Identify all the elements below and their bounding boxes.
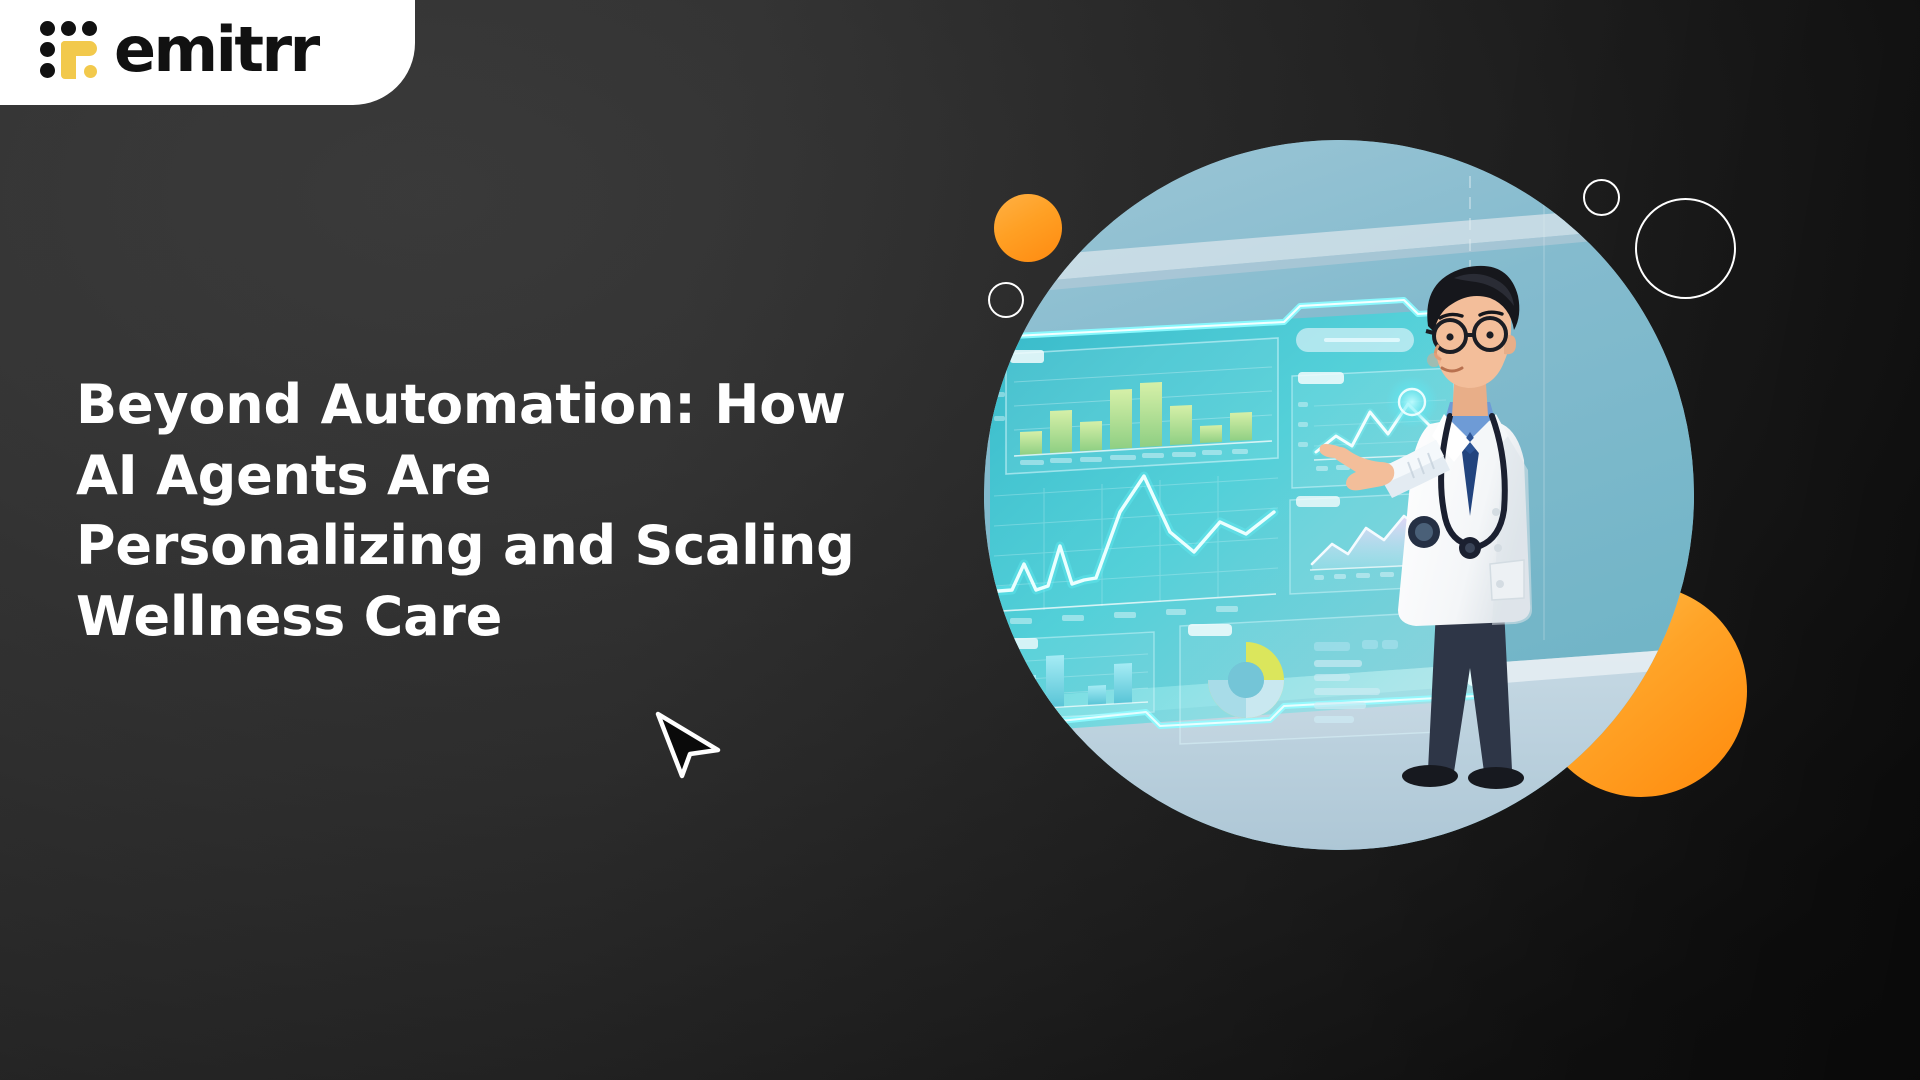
coat-button-1 bbox=[1492, 508, 1500, 516]
bar-chart-panel bbox=[994, 338, 1278, 474]
page-title: Beyond Automation: How AI Agents Are Per… bbox=[76, 370, 996, 653]
headline-block: Beyond Automation: How AI Agents Are Per… bbox=[76, 370, 996, 653]
headline-line-1: Beyond Automation: How bbox=[76, 370, 996, 441]
headline-line-4: Wellness Care bbox=[76, 582, 996, 653]
headline-line-3: Personalizing and Scaling bbox=[76, 511, 996, 582]
coat-button-3 bbox=[1496, 580, 1504, 588]
white-outline-circle-small-left bbox=[988, 282, 1024, 318]
hero-banner: emitrr Beyond Automation: How AI Agents … bbox=[0, 0, 1920, 1080]
white-outline-circle-large-right bbox=[1635, 198, 1736, 299]
touch-glow bbox=[1386, 376, 1438, 428]
doctor-shoe-right bbox=[1468, 767, 1524, 789]
doctor-eye-left bbox=[1446, 333, 1453, 340]
orange-filled-circle bbox=[994, 194, 1062, 262]
donut-chart-panel bbox=[1180, 612, 1440, 744]
doctor-shoe-left bbox=[1402, 765, 1458, 787]
mouse-pointer-cursor bbox=[652, 710, 724, 780]
white-outline-circle-small-right bbox=[1583, 179, 1620, 216]
emitrr-dot-grid-r-icon bbox=[40, 21, 100, 79]
hero-illustration bbox=[984, 140, 1694, 850]
brand-wordmark: emitrr bbox=[114, 23, 318, 76]
brand-logo-badge[interactable]: emitrr bbox=[0, 0, 415, 105]
doctor-eye-right bbox=[1486, 331, 1493, 338]
headline-line-2: AI Agents Are bbox=[76, 441, 996, 512]
coat-button-2 bbox=[1494, 544, 1502, 552]
